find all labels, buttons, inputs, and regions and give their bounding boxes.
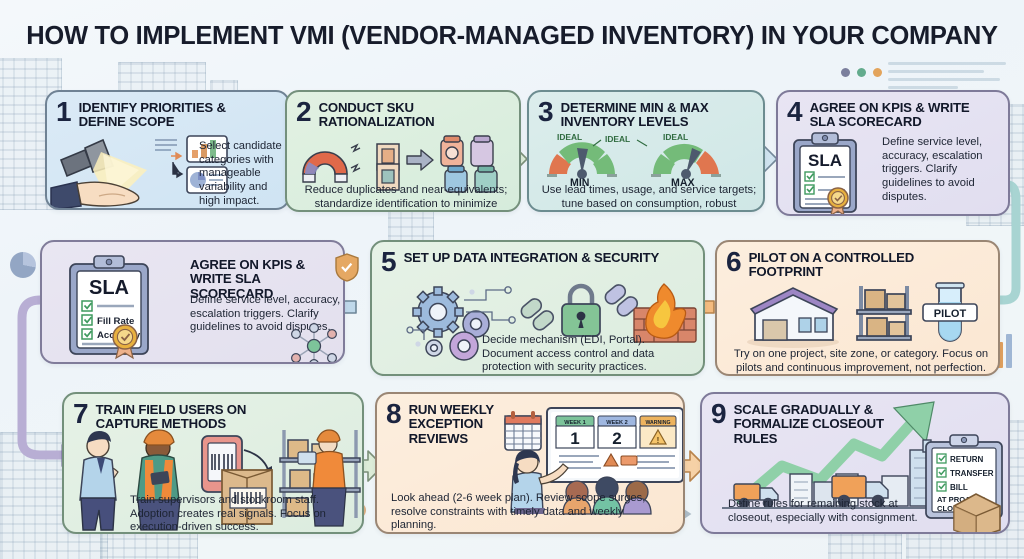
step-1-header: 1 IDENTIFY PRIORITIES & DEFINE SCOPE <box>47 92 288 130</box>
step-card-7[interactable]: 7 TRAIN FIELD USERS ON CAPTURE METHODS <box>62 392 364 534</box>
step-7-header: 7 TRAIN FIELD USERS ON CAPTURE METHODS <box>64 394 362 432</box>
step-card-4-duplicate[interactable]: SLA Fill Rate Accuracy AGREE ON KPIs & <box>40 240 345 364</box>
step-5-body: Decide mechanism (EDI, Portal). Document… <box>482 334 698 375</box>
step-7-title: TRAIN FIELD USERS ON CAPTURE METHODS <box>96 401 306 432</box>
clipboard-icon: SLA Fill Rate Accuracy <box>64 254 168 362</box>
svg-text:WEEK 1: WEEK 1 <box>564 420 585 426</box>
svg-text:2: 2 <box>612 429 621 448</box>
warehouse-icon: PILOT <box>741 282 993 350</box>
chain-link-icon <box>519 296 556 332</box>
test-tube-icon: PILOT <box>923 283 977 341</box>
step-6-number: 6 <box>726 249 742 275</box>
step-1-number: 1 <box>56 99 72 125</box>
step-4-title: AGREE ON KPIs & WRITE SLA SCORECARD <box>810 99 988 130</box>
svg-text:!: ! <box>657 436 660 445</box>
step-card-4[interactable]: 4 AGREE ON KPIs & WRITE SLA SCORECARD SL… <box>776 90 1010 216</box>
step-2-body: Reduce duplicates and near-equivalents; … <box>297 184 515 212</box>
gauge-icon: IDEAL IDEAL IDEAL MIN MAX <box>543 130 755 186</box>
svg-text:IDEAL: IDEAL <box>557 132 582 142</box>
step-2-header: 2 CONDUCT SKU RATIONALIZATION <box>287 92 519 130</box>
step-6-header: 6 PILOT ON A CONTROLLED FOOTPRINT <box>717 242 998 280</box>
step-3-body: Use lead times, usage, and service targe… <box>539 184 759 212</box>
step-8-number: 8 <box>386 401 402 427</box>
svg-text:WARNING: WARNING <box>645 420 670 426</box>
calendar-icon <box>505 411 541 450</box>
step-7-body: Train supervisors and stockroom staff. A… <box>130 494 360 534</box>
svg-text:SLA: SLA <box>89 277 129 299</box>
step-card-3[interactable]: 3 DETERMINE MIN & MAX INVENTORY LEVELS <box>527 90 765 212</box>
svg-text:1: 1 <box>570 429 579 448</box>
step-card-6[interactable]: 6 PILOT ON A CONTROLLED FOOTPRINT <box>715 240 1000 376</box>
step-1-title: IDENTIFY PRIORITIES & DEFINE SCOPE <box>79 99 259 130</box>
step-card-5[interactable]: 5 SET UP DATA INTEGRATION & SECURITY <box>370 240 705 376</box>
step-3-header: 3 DETERMINE MIN & MAX INVENTORY LEVELS <box>529 92 763 130</box>
page-title: HOW TO IMPLEMENT VMI (VENDOR-MANAGED INV… <box>0 22 1024 51</box>
svg-text:PILOT: PILOT <box>934 308 967 320</box>
step-3-title: DETERMINE MIN & MAX INVENTORY LEVELS <box>561 99 743 130</box>
step-6-body: Try on one project, site zone, or catego… <box>727 348 995 375</box>
shield-icon <box>334 252 360 282</box>
step-5-number: 5 <box>381 249 397 275</box>
infographic-root: HOW TO IMPLEMENT VMI (VENDOR-MANAGED INV… <box>0 0 1024 559</box>
svg-text:SLA: SLA <box>808 151 842 170</box>
step-card-1[interactable]: 1 IDENTIFY PRIORITIES & DEFINE SCOPE <box>45 90 290 210</box>
step-3-number: 3 <box>538 99 554 125</box>
step-6-title: PILOT ON A CONTROLLED FOOTPRINT <box>749 249 959 280</box>
clipboard-icon: SLA <box>788 132 874 216</box>
step-4-body: Define service level, accuracy, escalati… <box>882 136 1004 204</box>
step-4-header: 4 AGREE ON KPIs & WRITE SLA SCORECARD <box>778 92 1008 130</box>
step-card-8[interactable]: 8 RUN WEEKLY EXCEPTION REVIEWS <box>375 392 685 534</box>
network-nodes-icon <box>284 324 344 364</box>
shelf-boxes-icon <box>857 286 911 340</box>
step-1-body: Select candidate categories with managea… <box>199 140 290 208</box>
svg-text:IDEAL: IDEAL <box>663 132 688 142</box>
step-8-body: Look ahead (2-6 week plan). Review scope… <box>391 492 671 533</box>
flashlight-icon <box>51 134 171 210</box>
step-5-header: 5 SET UP DATA INTEGRATION & SECURITY <box>372 242 703 275</box>
svg-text:TRANSFER: TRANSFER <box>950 469 994 478</box>
magnet-icon <box>295 134 515 186</box>
step-card-2[interactable]: 2 CONDUCT SKU RATIONALIZATION <box>285 90 521 212</box>
parcel-box-icon <box>950 490 1004 534</box>
padlock-icon <box>562 286 600 336</box>
step-4-number: 4 <box>787 99 803 125</box>
step-card-9[interactable]: 9 SCALE GRADUALLY & FORMALIZE CLOSEOUT R… <box>700 392 1010 534</box>
svg-text:WEEK 2: WEEK 2 <box>606 420 627 426</box>
step-7-number: 7 <box>73 401 89 427</box>
svg-text:RETURN: RETURN <box>950 455 984 464</box>
svg-text:IDEAL: IDEAL <box>605 134 630 144</box>
step-9-body: Define rules for remaining stock at clos… <box>728 498 940 525</box>
step-2-title: CONDUCT SKU RATIONALIZATION <box>319 99 491 130</box>
step-2-number: 2 <box>296 99 312 125</box>
step-5-title: SET UP DATA INTEGRATION & SECURITY <box>404 249 662 265</box>
